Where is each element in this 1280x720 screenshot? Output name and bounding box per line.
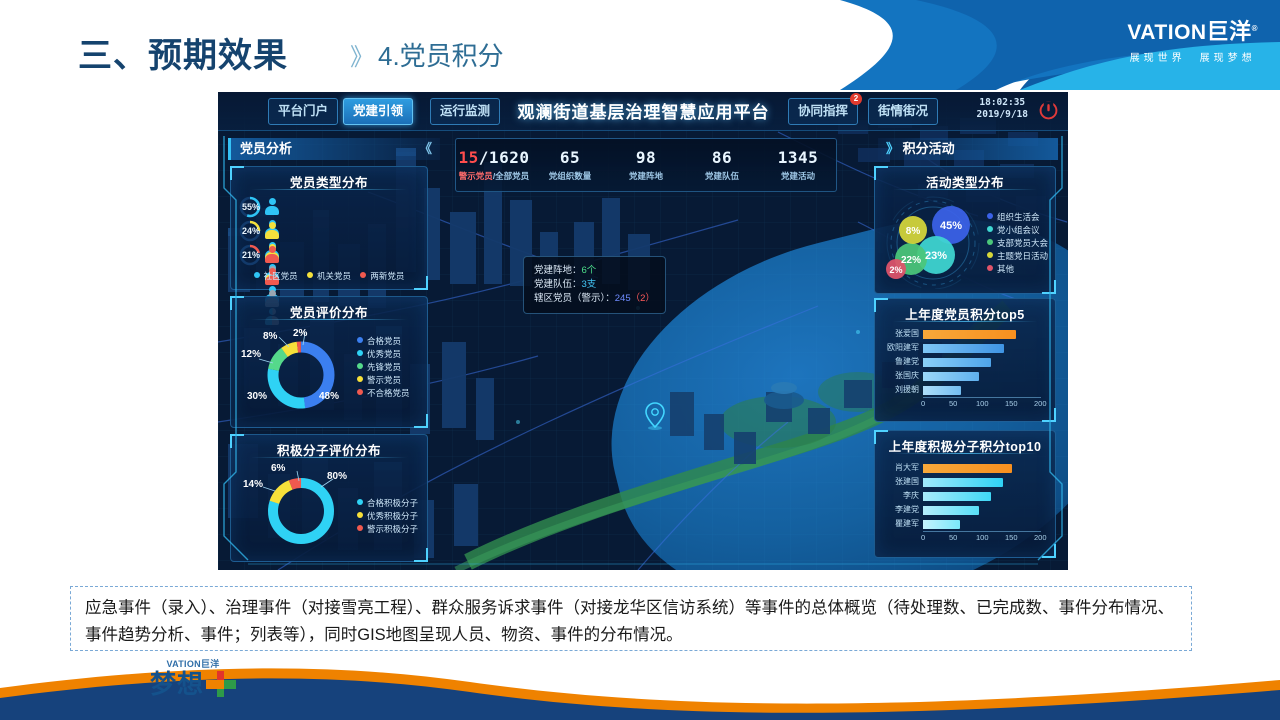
bar-chart-top5: 张爱国 欧阳建军 鲁建党 张国庆 刘援朝 0 50 100 150 200: [875, 327, 1055, 397]
svg-text:22%: 22%: [901, 255, 921, 266]
legend-label: 先锋党员: [367, 362, 401, 372]
legend-item: 优秀积极分子: [357, 510, 418, 523]
tooltip-value: 6个: [582, 265, 597, 276]
svg-text:23%: 23%: [925, 250, 947, 262]
legend-label: 优秀党员: [367, 349, 401, 359]
title-divider: [251, 189, 408, 190]
nav-tab-coordination-label: 协同指挥: [798, 104, 848, 118]
legend-item: 主题党日活动: [987, 250, 1048, 263]
title-divider: [893, 453, 1037, 454]
bar-label: 李建党: [877, 504, 919, 515]
brand-registered-icon: ®: [1252, 24, 1258, 33]
tooltip-label: 党建队伍：: [534, 279, 582, 290]
map-info-tooltip: 党建阵地：6个 党建队伍：3支 辖区党员（警示）：245（2）: [523, 256, 666, 314]
bar-row: 李庆: [875, 489, 1055, 504]
legend-dot: [357, 337, 363, 343]
dashboard-platform-title: 观澜街道基层治理智慧应用平台: [511, 98, 776, 123]
donut-label-2: 2%: [293, 328, 307, 339]
donut-label-12: 12%: [241, 349, 261, 360]
card-member-type-distribution: 党员类型分布 55% 24%: [230, 166, 428, 290]
bar-label: 张建国: [877, 476, 919, 487]
bar-chart-top10: 肖大军 张建国 李庆 李建党 瞿建军 0 50 100 150 200: [875, 461, 1055, 533]
collapse-icon[interactable]: 《: [419, 138, 432, 160]
x-tick: 50: [949, 399, 957, 408]
legend-item: 警示党员: [357, 374, 410, 387]
legend-item: 合格积极分子: [357, 497, 418, 510]
brand-tagline: 展现世界 展现梦想: [1127, 49, 1258, 64]
bar-label: 李庆: [877, 490, 919, 501]
footer-brand-text: 梦想: [150, 669, 204, 699]
right-panel-header: 》 积分活动: [878, 138, 1058, 160]
clock-display: 18:02:35 2019/9/18: [977, 97, 1028, 121]
legend-dot: [357, 512, 363, 518]
bar-row: 肖大军: [875, 461, 1055, 476]
card-legend: 合格积极分子 优秀积极分子 警示积极分子: [357, 497, 418, 536]
title-divider: [251, 457, 408, 458]
tooltip-line-positions: 党建阵地：6个: [534, 264, 655, 278]
chevron-right-icon: 》: [350, 44, 370, 71]
dashboard-screenshot: 平台门户 党建引领 运行监测 观澜街道基层治理智慧应用平台 协同指挥 2 街情街…: [218, 92, 1068, 570]
card-activist-evaluation-distribution: 积极分子评价分布 6% 14% 80% 合格积极分子 优秀积极分子 警示积极分子: [230, 434, 428, 562]
bar-fill: [923, 478, 1003, 487]
tooltip-line-members: 辖区党员（警示）：245（2）: [534, 292, 655, 306]
title-divider: [893, 321, 1037, 322]
legend-dot: [360, 272, 366, 278]
bar-row: 瞿建军: [875, 517, 1055, 532]
legend-dot: [987, 252, 993, 258]
nav-tab-street-status[interactable]: 街情街况: [868, 98, 938, 125]
legend-label: 支部党员大会: [997, 238, 1048, 248]
bar-fill: [923, 506, 979, 515]
svg-text:2%: 2%: [889, 265, 902, 275]
bar-fill: [923, 330, 1016, 339]
kpi-value: 86: [684, 148, 760, 167]
legend-label: 警示积极分子: [367, 524, 418, 534]
legend-label: 合格积极分子: [367, 498, 418, 508]
card-legend: 社区党员 机关党员 两新党员: [239, 270, 419, 283]
person-icon: [265, 198, 279, 215]
legend-label: 不合格党员: [367, 388, 410, 398]
clock-time: 18:02:35: [977, 97, 1028, 109]
legend-item: 合格党员: [357, 335, 410, 348]
x-tick: 200: [1034, 533, 1047, 542]
kpi-value: 1345: [760, 148, 836, 167]
type-pct-agency: 24%: [242, 226, 260, 236]
bar-label: 张国庆: [877, 370, 919, 381]
clock-date: 2019/9/18: [977, 109, 1028, 121]
kpi-positions: 98 党建阵地: [608, 148, 684, 182]
nav-tab-monitoring[interactable]: 运行监测: [430, 98, 500, 125]
legend-item: 先锋党员: [357, 361, 410, 374]
kpi-label: 党组织数量: [532, 170, 608, 182]
card-activist-score-top10: 上年度积极分子积分top10 肖大军 张建国 李庆 李建党 瞿建军 0 50 1…: [874, 430, 1056, 558]
dashboard-top-nav: 平台门户 党建引领 运行监测 观澜街道基层治理智慧应用平台 协同指挥 2 街情街…: [218, 92, 1068, 131]
chevron-right-icon: 》: [886, 141, 899, 156]
kpi-strip: 15/1620 警示党员/全部党员 65 党组织数量 98 党建阵地 86 党建…: [455, 138, 837, 192]
legend-dot: [357, 363, 363, 369]
bar-label: 欧阳建军: [877, 342, 919, 353]
legend-item: 其他: [987, 263, 1048, 276]
legend-item: 机关党员: [307, 271, 351, 281]
legend-dot: [987, 265, 993, 271]
kpi-value: 98: [608, 148, 684, 167]
page-subtitle: 》4.党员积分: [350, 36, 504, 73]
type-pct-community: 55%: [242, 202, 260, 212]
tooltip-warning: （2）: [631, 293, 655, 304]
bar-fill: [923, 464, 1012, 473]
donut-label-8: 8%: [263, 331, 277, 342]
kpi-label-total: /全部党员: [493, 171, 529, 181]
legend-dot: [307, 272, 313, 278]
donut-label-6: 6%: [271, 463, 285, 474]
bar-label: 张爱国: [877, 328, 919, 339]
slide-footer: VATION巨洋 梦想: [0, 658, 1280, 720]
bar-fill: [923, 492, 991, 501]
card-activity-type-distribution: 活动类型分布 45% 23% 22% 8% 2% 组织生活会 党小组会议 支部党…: [874, 166, 1056, 294]
kpi-value-warning: 15: [459, 148, 479, 167]
person-icon: [265, 222, 279, 239]
x-axis-line: [923, 397, 1041, 398]
legend-label: 主题党日活动: [997, 251, 1048, 261]
card-legend: 组织生活会 党小组会议 支部党员大会 主题党日活动 其他: [987, 211, 1048, 276]
x-tick: 200: [1034, 399, 1047, 408]
brand-name-cn: 巨洋: [1207, 19, 1252, 44]
nav-tab-party-building[interactable]: 党建引领: [343, 98, 413, 125]
legend-label: 警示党员: [367, 375, 401, 385]
bar-row: 鲁建党: [875, 355, 1055, 370]
kpi-label-warning: 警示党员: [459, 171, 493, 181]
kpi-activities: 1345 党建活动: [760, 148, 836, 182]
legend-dot: [987, 213, 993, 219]
card-legend: 合格党员 优秀党员 先锋党员 警示党员 不合格党员: [357, 335, 410, 400]
legend-item: 组织生活会: [987, 211, 1048, 224]
left-panel-header: 党员分析 《: [228, 138, 440, 160]
title-divider: [251, 319, 408, 320]
legend-label: 组织生活会: [997, 212, 1040, 222]
nav-tab-portal[interactable]: 平台门户: [268, 98, 338, 125]
tooltip-value: 245: [615, 293, 631, 304]
legend-dot: [987, 226, 993, 232]
bar-label: 瞿建军: [877, 518, 919, 529]
legend-dot: [357, 525, 363, 531]
caption-box: 应急事件（录入）、治理事件（对接雪亮工程）、群众服务诉求事件（对接龙华区信访系统…: [70, 586, 1192, 651]
kpi-value: 65: [532, 148, 608, 167]
bar-fill: [923, 344, 1004, 353]
kpi-org-count: 65 党组织数量: [532, 148, 608, 182]
donut-label-30: 30%: [247, 391, 267, 402]
card-member-evaluation-distribution: 党员评价分布 48% 30% 12% 8% 2%: [230, 296, 428, 428]
legend-label: 机关党员: [317, 271, 351, 281]
kpi-label: 党建队伍: [684, 170, 760, 182]
kpi-teams: 86 党建队伍: [684, 148, 760, 182]
map-location-marker-icon[interactable]: [644, 402, 666, 430]
footer-logo: VATION巨洋 梦想: [150, 658, 236, 698]
bar-fill: [923, 520, 960, 529]
donut-label-14: 14%: [243, 479, 263, 490]
bar-row: 李建党: [875, 503, 1055, 518]
type-pct-new: 21%: [242, 250, 260, 260]
legend-dot: [357, 499, 363, 505]
svg-text:8%: 8%: [906, 226, 921, 237]
bar-row: 刘援朝: [875, 383, 1055, 398]
footer-brand-cn: 梦想: [150, 670, 236, 698]
x-tick: 0: [921, 399, 925, 408]
legend-item: 党小组会议: [987, 224, 1048, 237]
kpi-label: 党建活动: [760, 170, 836, 182]
bar-row: 张爱国: [875, 327, 1055, 342]
bar-row: 张国庆: [875, 369, 1055, 384]
notification-badge: 2: [850, 93, 862, 105]
legend-label: 社区党员: [264, 271, 298, 281]
card-member-score-top5: 上年度党员积分top5 张爱国 欧阳建军 鲁建党 张国庆 刘援朝 0 50 10…: [874, 298, 1056, 422]
kpi-value-total: /1620: [479, 148, 530, 167]
legend-label: 两新党员: [370, 271, 404, 281]
tooltip-label: 辖区党员（警示）：: [534, 293, 615, 304]
right-panel-title: 积分活动: [903, 141, 955, 156]
legend-item: 支部党员大会: [987, 237, 1048, 250]
tooltip-label: 党建阵地：: [534, 265, 582, 276]
x-axis-line: [923, 531, 1041, 532]
svg-text:45%: 45%: [940, 220, 962, 232]
nav-tab-coordination[interactable]: 协同指挥 2: [788, 98, 858, 125]
legend-item: 不合格党员: [357, 387, 410, 400]
brand-logo: VATION巨洋® 展现世界 展现梦想: [1127, 14, 1258, 64]
left-panel-title: 党员分析: [240, 141, 292, 156]
bubble-chart-activity-type: 45% 23% 22% 8% 2%: [879, 193, 987, 289]
bar-fill: [923, 386, 961, 395]
donut-label-48: 48%: [319, 391, 339, 402]
x-tick: 100: [976, 399, 989, 408]
legend-item: 两新党员: [360, 271, 404, 281]
bar-row: 欧阳建军: [875, 341, 1055, 356]
plus-logo-icon: [206, 671, 236, 697]
power-icon[interactable]: [1039, 101, 1058, 120]
legend-label: 党小组会议: [997, 225, 1040, 235]
x-tick: 100: [976, 533, 989, 542]
x-tick: 0: [921, 533, 925, 542]
bar-fill: [923, 372, 979, 381]
bar-row: 张建国: [875, 475, 1055, 490]
legend-dot: [254, 272, 260, 278]
tooltip-value: 3支: [582, 279, 597, 290]
bar-label: 肖大军: [877, 462, 919, 473]
kpi-label: 党建阵地: [608, 170, 684, 182]
x-tick: 50: [949, 533, 957, 542]
kpi-warning-members: 15/1620 警示党员/全部党员: [456, 148, 532, 182]
x-tick: 150: [1005, 533, 1018, 542]
page-subtitle-text: 4.党员积分: [378, 41, 504, 71]
bar-fill: [923, 358, 991, 367]
legend-dot: [357, 389, 363, 395]
donut-label-80: 80%: [327, 471, 347, 482]
legend-item: 社区党员: [254, 271, 298, 281]
title-divider: [893, 189, 1037, 190]
bar-label: 刘援朝: [877, 384, 919, 395]
legend-dot: [987, 239, 993, 245]
page-title: 三、预期效果: [78, 28, 288, 77]
brand-name-en: VATION: [1127, 21, 1206, 44]
legend-label: 优秀积极分子: [367, 511, 418, 521]
legend-item: 警示积极分子: [357, 523, 418, 536]
person-icon: [265, 246, 279, 263]
legend-label: 合格党员: [367, 336, 401, 346]
legend-label: 其他: [997, 264, 1014, 274]
legend-item: 优秀党员: [357, 348, 410, 361]
bar-label: 鲁建党: [877, 356, 919, 367]
legend-dot: [357, 376, 363, 382]
tooltip-line-teams: 党建队伍：3支: [534, 278, 655, 292]
legend-dot: [357, 350, 363, 356]
x-tick: 150: [1005, 399, 1018, 408]
